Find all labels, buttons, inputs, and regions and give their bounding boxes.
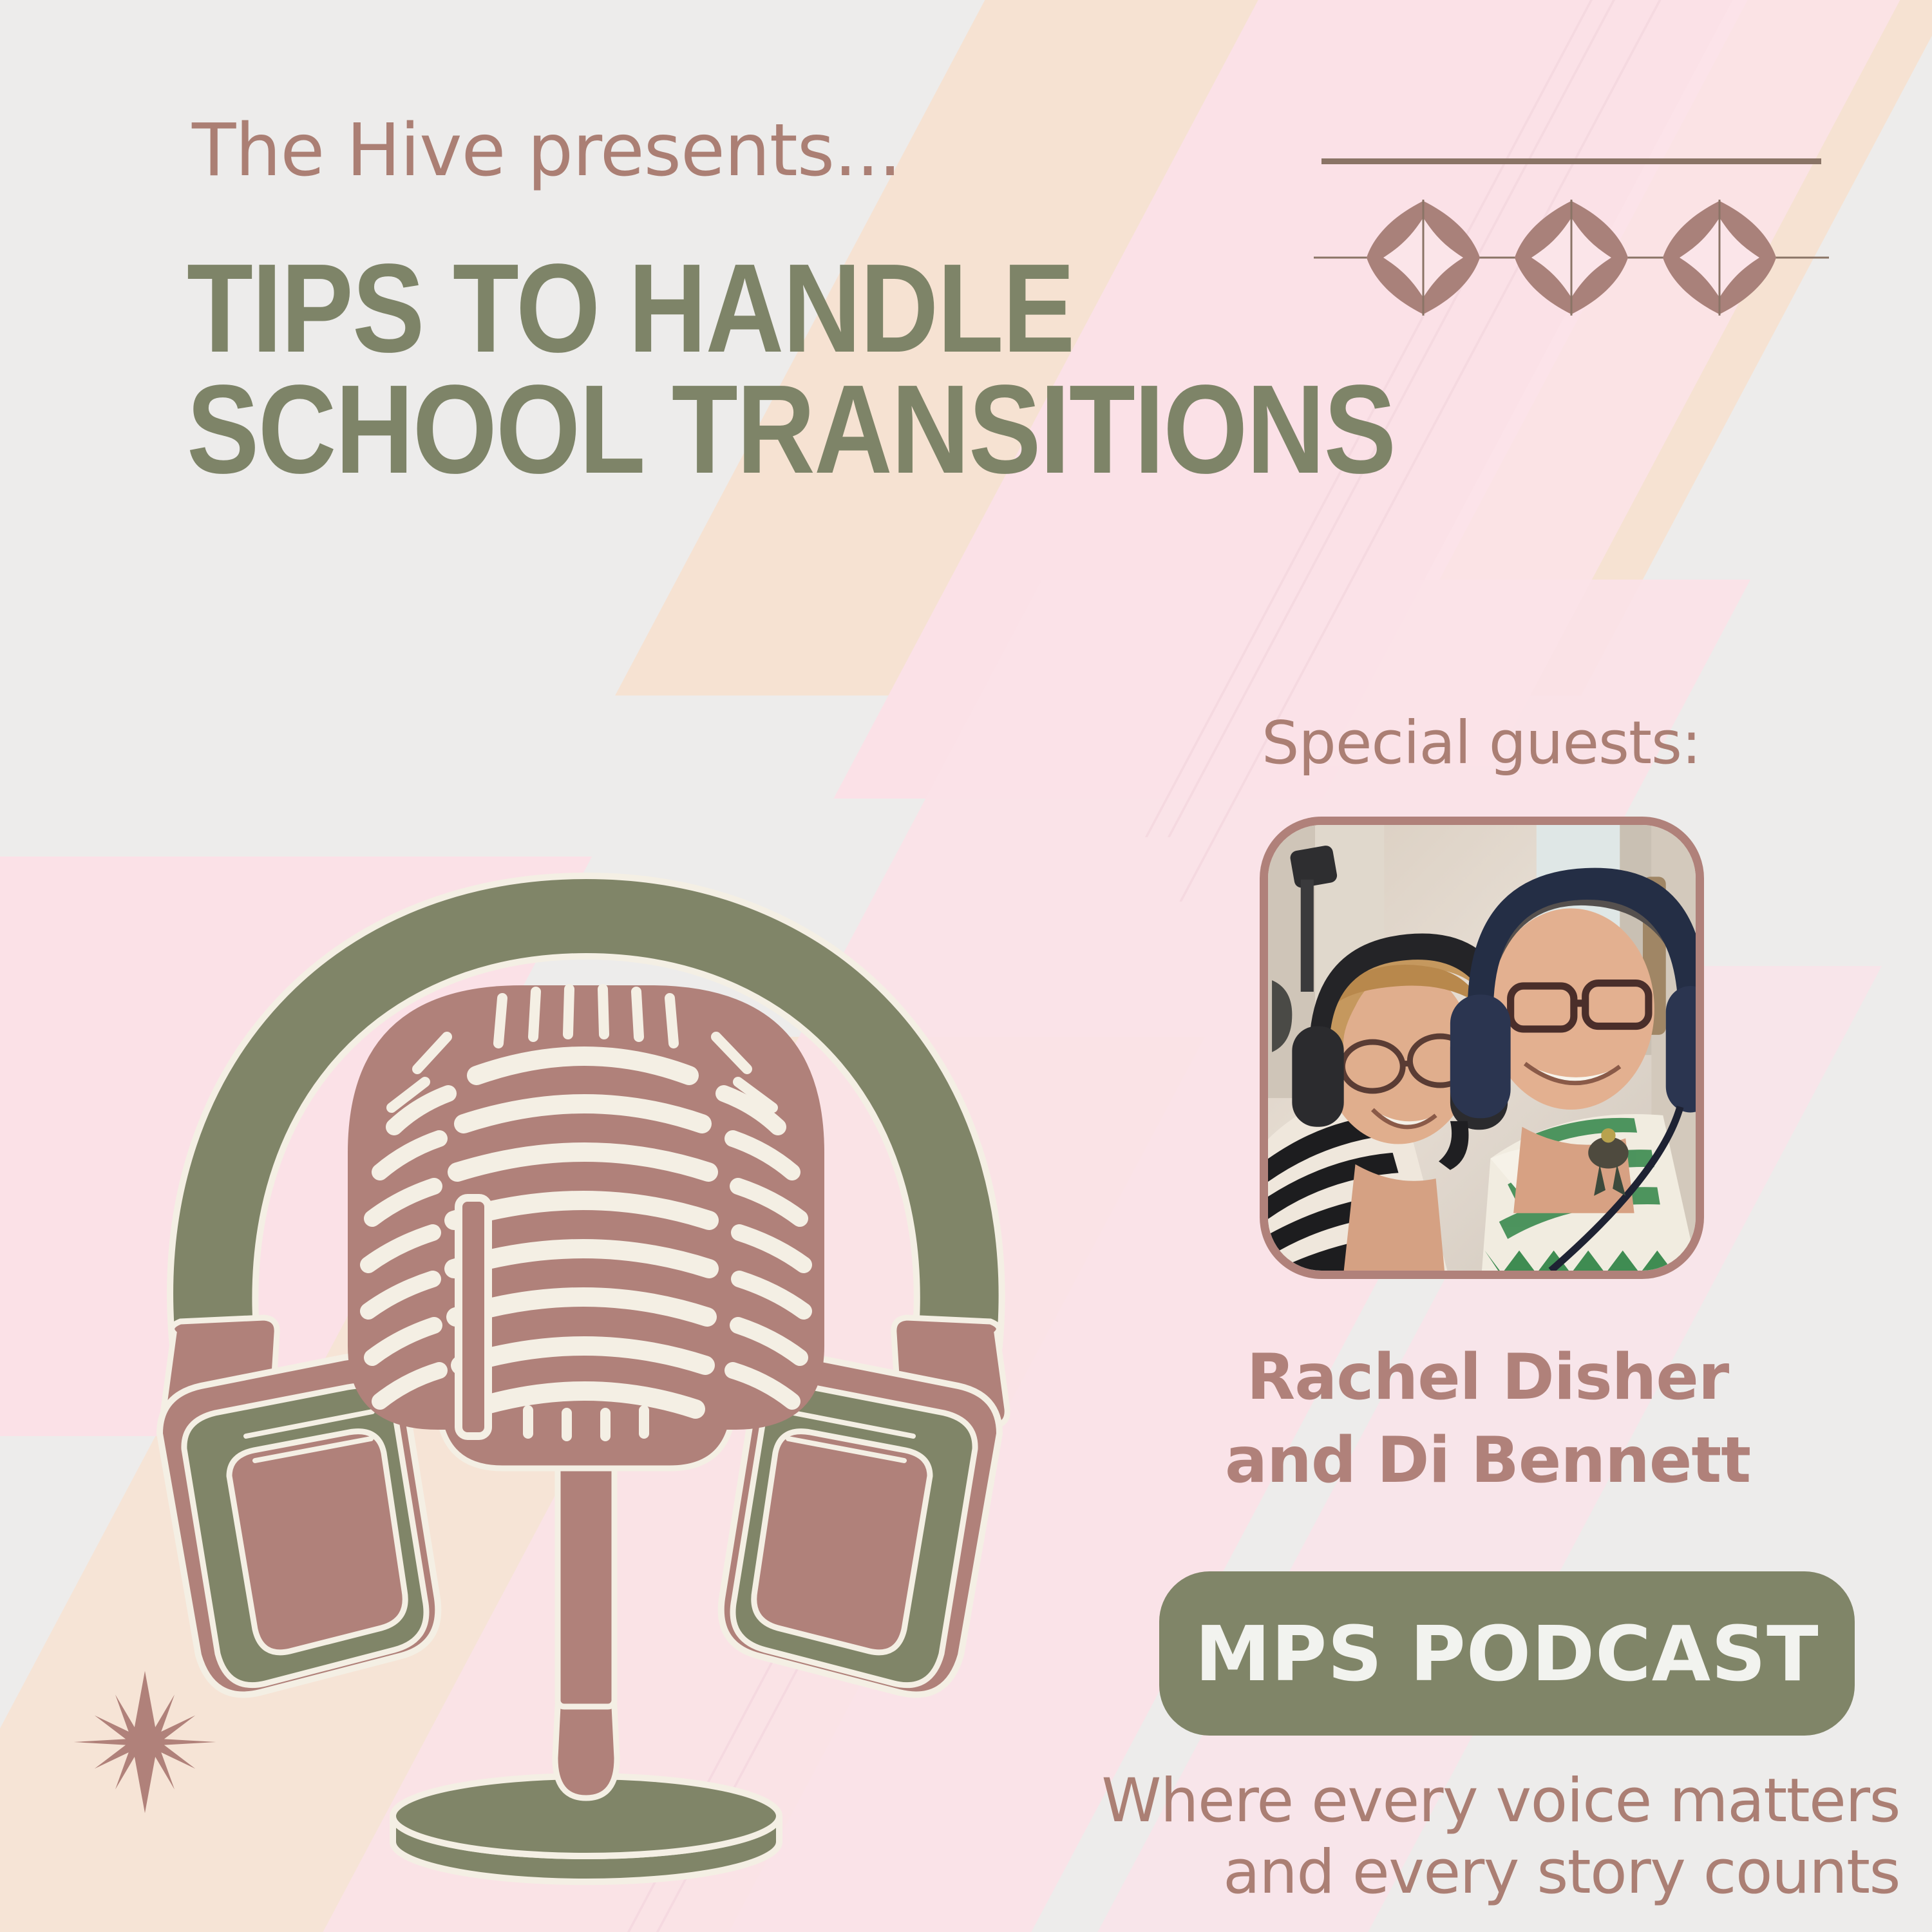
pink-band-top-right-secondary xyxy=(1325,0,1921,766)
tagline: Where every voice matters and every stor… xyxy=(921,1766,1900,1909)
guest-photo xyxy=(1260,817,1704,1279)
podcast-promo-poster: The Hive presents... TIPS TO HANDLE SCHO… xyxy=(0,0,1932,1932)
four-point-star-trio-icon xyxy=(1314,200,1829,316)
eight-point-sparkle-icon xyxy=(71,1668,219,1816)
podcast-badge-label: MPS PODCAST xyxy=(1195,1609,1819,1698)
page-title: TIPS TO HANDLE SCHOOL TRANSITIONS xyxy=(187,248,1395,490)
tagline-line-2: and every story counts xyxy=(921,1837,1900,1909)
ornament-top-right xyxy=(1314,148,1829,316)
guest-name-1: Rachel Disher xyxy=(1179,1336,1797,1419)
podcast-badge[interactable]: MPS PODCAST xyxy=(1159,1571,1855,1736)
headline-line-1: TIPS TO HANDLE xyxy=(187,238,1074,379)
tagline-line-1: Where every voice matters xyxy=(921,1766,1900,1837)
special-guests-label: Special guests: xyxy=(1227,708,1736,777)
vintage-microphone-with-headphones-icon xyxy=(77,663,1211,1906)
guest-names: Rachel Disher and Di Bennett xyxy=(1179,1336,1797,1503)
horizontal-rule-icon xyxy=(1321,158,1821,164)
headline-line-2: SCHOOL TRANSITIONS xyxy=(187,369,1395,490)
guest-photo-illustration xyxy=(1268,825,1696,1271)
guest-name-2: and Di Bennett xyxy=(1179,1419,1797,1502)
kicker-text: The Hive presents... xyxy=(192,115,901,187)
